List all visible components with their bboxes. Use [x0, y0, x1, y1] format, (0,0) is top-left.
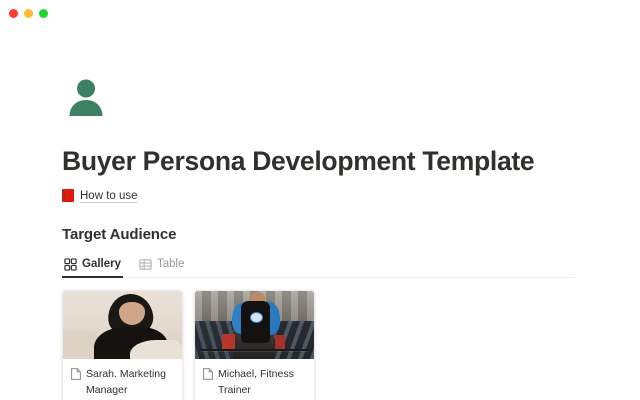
card-body: Michael, Fitness Trainer [195, 359, 314, 400]
document-body: Buyer Persona Development Template How t… [0, 26, 640, 400]
database-view-tabs: Gallery Table [62, 256, 575, 278]
gallery-card-list: Sarah. Marketing Manager [62, 290, 640, 400]
closed-book-emoji [62, 189, 74, 202]
window-titlebar [0, 0, 640, 26]
how-to-use-row[interactable]: How to use [62, 189, 640, 202]
section-title-target-audience[interactable]: Target Audience [62, 226, 640, 243]
gallery-grid-icon [64, 258, 77, 271]
tab-gallery-label: Gallery [82, 259, 121, 271]
page-document-icon [71, 368, 81, 380]
page-document-icon [203, 368, 213, 380]
how-to-use-link[interactable]: How to use [80, 190, 138, 202]
card-cover-image-michael [195, 291, 314, 359]
minimize-button[interactable] [24, 9, 33, 18]
page-title[interactable]: Buyer Persona Development Template [62, 146, 640, 176]
traffic-light-buttons [9, 9, 48, 18]
maximize-button[interactable] [39, 9, 48, 18]
card-body: Sarah. Marketing Manager [63, 359, 182, 400]
tab-gallery[interactable]: Gallery [62, 256, 123, 277]
person-icon[interactable] [62, 74, 110, 122]
card-cover-image-sarah [63, 291, 182, 359]
tab-table[interactable]: Table [137, 256, 187, 277]
list-item[interactable]: Michael, Fitness Trainer [194, 290, 315, 400]
table-grid-icon [139, 258, 152, 271]
card-title: Sarah. Marketing Manager [86, 367, 174, 397]
tab-table-label: Table [157, 259, 185, 271]
close-button[interactable] [9, 9, 18, 18]
card-title: Michael, Fitness Trainer [218, 367, 306, 397]
list-item[interactable]: Sarah. Marketing Manager [62, 290, 183, 400]
